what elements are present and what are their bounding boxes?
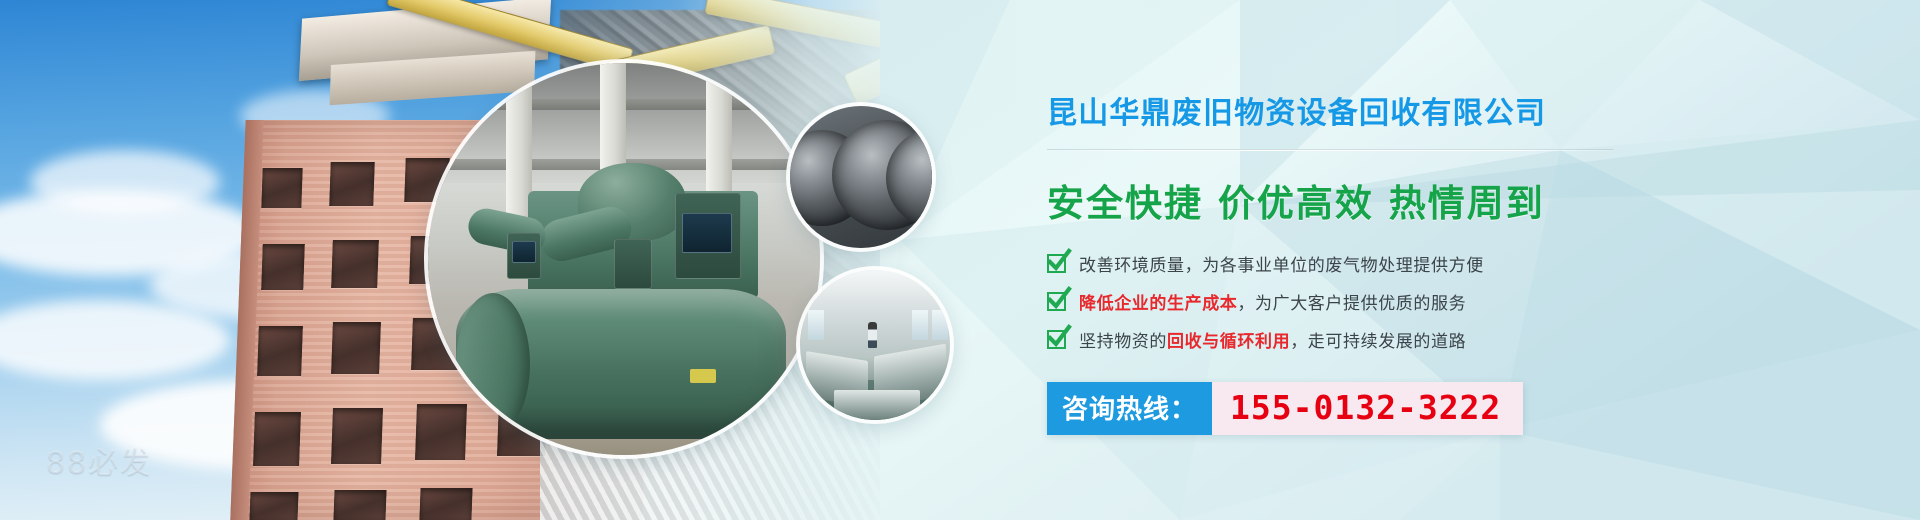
feature-lead: 坚持物资的 xyxy=(1079,332,1167,352)
feature-text: 改善环境质量，为各事业单位的废气物处理提供方便 xyxy=(1079,251,1484,276)
workshop-production-photo xyxy=(800,270,950,420)
cloud xyxy=(30,150,220,214)
building-window xyxy=(331,322,381,374)
list-item: 改善环境质量，为各事业单位的废气物处理提供方便 xyxy=(1047,251,1667,276)
feature-body: ，走可持续发展的道路 xyxy=(1290,332,1466,352)
check-icon xyxy=(1047,330,1066,349)
company-name: 昆山华鼎废旧物资设备回收有限公司 xyxy=(1047,96,1667,133)
control-screen xyxy=(682,213,732,253)
check-icon xyxy=(1047,254,1066,273)
steel-coil-photo xyxy=(790,106,932,248)
feature-text: 坚持物资的回收与循环利用，走可持续发展的道路 xyxy=(1079,327,1466,352)
workshop-window xyxy=(932,310,948,340)
control-panel xyxy=(614,239,652,289)
building-window xyxy=(329,162,375,206)
building-window xyxy=(333,490,386,520)
feature-text: 降低企业的生产成本，为广大客户提供优质的服务 xyxy=(1079,289,1466,314)
feature-highlight: 降低企业的生产成本 xyxy=(1079,294,1237,314)
hotline-number[interactable]: 155-0132-3222 xyxy=(1212,382,1523,435)
slogan: 安全快捷 价优高效 热情周到 xyxy=(1047,173,1667,227)
equipment-label xyxy=(690,369,716,383)
feature-highlight: 回收与循环利用 xyxy=(1167,332,1290,352)
list-item: 坚持物资的回收与循环利用，走可持续发展的道路 xyxy=(1047,327,1667,352)
building-window xyxy=(257,326,303,376)
list-item: 降低企业的生产成本，为广大客户提供优质的服务 xyxy=(1047,289,1667,314)
building-window xyxy=(253,412,301,466)
feature-body: 改善环境质量，为各事业单位的废气物处理提供方便 xyxy=(1079,256,1484,276)
chiller-tank-cap xyxy=(456,293,530,435)
workshop-window xyxy=(808,310,824,340)
building-window xyxy=(261,244,305,290)
check-icon xyxy=(1047,292,1066,311)
hotline-bar[interactable]: 咨询热线： 155-0132-3222 xyxy=(1047,382,1523,435)
building-window xyxy=(250,492,299,520)
watermark: 88必发 xyxy=(46,438,152,482)
divider xyxy=(1047,149,1613,151)
chiller-equipment-photo xyxy=(428,63,820,455)
building-window xyxy=(331,240,379,288)
hotline-label: 咨询热线： xyxy=(1047,382,1212,435)
factory-worker xyxy=(868,322,877,348)
building-window xyxy=(419,488,472,520)
feature-body: ，为广大客户提供优质的服务 xyxy=(1237,294,1466,314)
banner-content: 昆山华鼎废旧物资设备回收有限公司 安全快捷 价优高效 热情周到 改善环境质量，为… xyxy=(1047,96,1667,435)
control-screen xyxy=(512,241,536,263)
promo-banner: 88必发 xyxy=(0,0,1920,520)
production-bench xyxy=(834,390,920,420)
feature-list: 改善环境质量，为各事业单位的废气物处理提供方便 降低企业的生产成本，为广大客户提… xyxy=(1047,251,1667,352)
workshop-window xyxy=(912,310,928,340)
building-window xyxy=(331,408,383,464)
building-window xyxy=(261,168,302,208)
